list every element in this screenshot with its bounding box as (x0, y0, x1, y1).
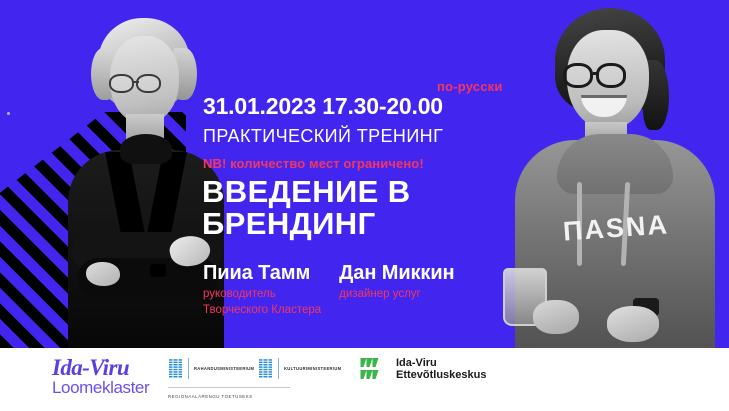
speaker-role-line-1: дизайнер услуг (339, 287, 454, 303)
limited-seats-notice: NB! количество мест ограничено! (203, 156, 424, 171)
man-eyeglass-right (596, 63, 626, 88)
ministry-name: KULTUURIMINISTEERIUM (284, 366, 341, 371)
page-title-line-1: ВВЕДЕНИЕ В (202, 176, 411, 208)
man-hand-left (533, 300, 579, 334)
enterprise-centre-line-2: Ettevõtluskeskus (396, 369, 486, 381)
speaker-name: Пииа Тамм (203, 262, 321, 285)
speaker-role-line-2: Творческого Кластера (203, 303, 321, 319)
event-poster: ПАSNA по-русски 31.01.2023 17.30-20.00 П… (0, 0, 729, 411)
speakers-list: Пииа Тамм руководитель Творческого Класт… (203, 262, 455, 318)
man-hand-right (607, 306, 659, 342)
woman-eyeglass-right (136, 74, 161, 93)
woman-eyeglass-bridge (133, 81, 139, 83)
page-title: ВВЕДЕНИЕ В БРЕНДИНГ (202, 176, 411, 240)
ministry-name: RAHANDUSMINISTEERIUM (194, 366, 254, 371)
speaker-item: Дан Миккин дизайнер услуг (339, 262, 454, 318)
logo-divider (278, 358, 279, 379)
language-badge: по-русски (437, 79, 503, 94)
woman-turtleneck (120, 134, 172, 164)
dot-decoration (7, 112, 10, 115)
green-arrows-icon (360, 357, 390, 381)
man-eyeglass-bridge (593, 72, 598, 75)
event-type-label: ПРАКТИЧЕСКИЙ ТРЕНИНГ (203, 126, 443, 147)
page-title-line-2: БРЕНДИНГ (202, 208, 411, 240)
enterprise-centre-line-1: Ida-Viru (396, 357, 486, 369)
speaker-name: Дан Миккин (339, 262, 454, 285)
event-datetime: 31.01.2023 17.30-20.00 (203, 93, 443, 120)
speaker-item: Пииа Тамм руководитель Творческого Класт… (203, 262, 321, 318)
estonia-crest-icon (258, 357, 273, 379)
loomeklaster-logo-top: Ida-Viru (52, 356, 149, 379)
support-note: REGIONAALARENGU TOETUSEKS (168, 394, 253, 399)
logo-divider (188, 358, 189, 379)
sponsor-footer: Ida-Viru Loomeklaster (0, 348, 729, 411)
woman-hand-left (86, 262, 120, 286)
woman-wristwatch (150, 264, 166, 277)
loomeklaster-logo-bottom: Loomeklaster (52, 379, 149, 397)
speaker-photo-dan-mikkin: ПАSNA (515, 0, 715, 350)
speaker-role: руководитель Творческого Кластера (203, 287, 321, 318)
ida-viru-enterprise-centre-logo[interactable]: Ida-Viru Ettevõtluskeskus (360, 357, 486, 382)
woman-eyeglass-left (109, 74, 134, 93)
footer-rule (168, 387, 290, 388)
enterprise-centre-text: Ida-Viru Ettevõtluskeskus (396, 357, 486, 382)
man-eyeglass-left (563, 63, 593, 88)
speaker-role: дизайнер услуг (339, 287, 454, 303)
speaker-role-line-1: руководитель (203, 287, 321, 303)
man-hood (557, 134, 673, 194)
estonia-crest-icon (168, 357, 183, 379)
loomeklaster-logo[interactable]: Ida-Viru Loomeklaster (52, 356, 149, 397)
